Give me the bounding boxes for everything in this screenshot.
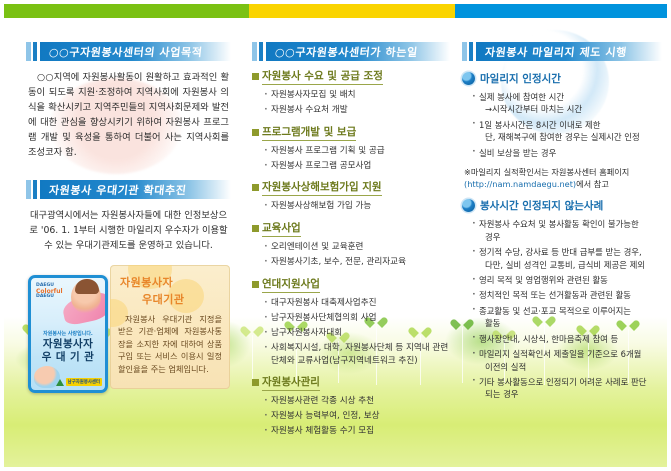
section-header-activities: ○○구자원봉사센터가 하는일: [252, 42, 450, 61]
mileage-hours-list: 실제 봉사에 참여한 시간 →시작시간부터 마치는 시간 1일 봉사시간은 8시…: [462, 91, 662, 159]
list-item: 오리엔테이션 및 교육훈련: [263, 241, 450, 254]
brochure-page: ○○구자원봉사센터의 사업목적 ○○지역에 자원봉사활동이 원활하고 효과적인 …: [0, 0, 671, 471]
ribbon-tick-dark: [33, 42, 37, 61]
preferred-org-infobox: 자원봉사자 우대기관 자원봉사 우대기관 지정을 받은 기관·업체에 자원봉사통…: [110, 265, 230, 389]
person-hair-illustration: [75, 279, 99, 294]
activity-block-header: 자원봉사상해보험가입 지원: [252, 181, 450, 196]
list-item: 1일 봉사시간은 8시간 이내로 제한 단, 재해복구에 참여한 경우는 실제시…: [471, 119, 662, 144]
list-item: 자원봉사 프로그램 공모사업: [263, 160, 450, 173]
activity-block: 자원봉사상해보험가입 지원 자원봉사상해보험 가입 가능: [252, 181, 450, 213]
preferred-org-paragraph: 대구광역시에서는 자원봉사자들에 대한 인정보상으로 '06. 1. 1부터 시…: [28, 208, 229, 253]
ribbon-tick-light: [462, 42, 467, 61]
list-item: 자원봉사 체험활동 수기 모집: [263, 425, 450, 438]
list-item: 남구자원봉사단체협의회 사업: [263, 312, 450, 325]
list-item: 영리 목적 및 영업행위와 관련된 활동: [471, 274, 662, 286]
activity-item-list: 자원봉사 프로그램 기획 및 공급 자원봉사 프로그램 공모사업: [252, 145, 450, 173]
section-header-mileage: 자원봉사 마일리지 제도 시행: [462, 42, 662, 61]
ribbon-tick-dark: [259, 42, 263, 61]
brochure-sheet: ○○구자원봉사센터의 사업목적 ○○지역에 자원봉사활동이 원활하고 효과적인 …: [4, 4, 667, 467]
list-item: 마일리지 실적확인서 제출일을 기준으로 6개월 이전의 실적: [471, 348, 662, 373]
mileage-hours-title: 마일리지 인정시간: [480, 71, 561, 86]
center-homepage-link[interactable]: (http://nam.namdaegu.net): [464, 179, 576, 189]
activity-block-header: 교육사업: [252, 222, 450, 237]
list-item: 자원봉사 능력부여, 인정, 보상: [263, 410, 450, 423]
list-item: 정치적인 목적 또는 선거활동과 관련된 활동: [471, 289, 662, 301]
section-header-preferred-org: 자원봉사 우대기관 확대추진: [26, 180, 231, 199]
ribbon-tick-dark: [469, 42, 473, 61]
square-bullet-icon: [252, 184, 259, 191]
list-item: 대구자원봉사 대축제사업추진: [263, 297, 450, 310]
activity-block-header: 자원봉사 수요 및 공급 조정: [252, 70, 450, 85]
ribbon-bar: 자원봉사 마일리지 제도 시행: [476, 42, 662, 61]
purpose-paragraph: ○○지역에 자원봉사활동이 원활하고 효과적인 활동이 되도록 지원·조정하여 …: [28, 70, 229, 160]
list-item: 남구자원봉사자대회: [263, 327, 450, 340]
list-item: 실비 보상을 받는 경우: [471, 147, 662, 159]
poster-tagline: 자원봉사는 사랑입니다.: [31, 330, 105, 337]
activity-block-header: 자원봉사관리: [252, 376, 450, 391]
activity-block-title: 자원봉사 수요 및 공급 조정: [262, 70, 383, 85]
section-header-purpose: ○○구자원봉사센터의 사업목적: [26, 42, 231, 61]
section-title-preferred-org: 자원봉사 우대기관 확대추진: [39, 182, 187, 198]
list-item: 자원봉사기초, 보수, 전문, 관리자교육: [263, 256, 450, 269]
yellow-bar: [249, 4, 455, 18]
excluded-cases-title: 봉사시간 인정되지 않는사례: [480, 198, 603, 213]
list-item: 정기적 수당, 강사료 등 반대 급부를 받는 경우, 다만, 실비 성격인 교…: [471, 246, 662, 271]
infobox-title-line2: 우대기관: [142, 291, 184, 307]
list-item: 사회복지시설, 대학, 자원봉사단체 등 지역내 관련단체와 교류사업(남구지역…: [263, 342, 450, 367]
right-column: 자원봉사 마일리지 제도 시행 마일리지 인정시간 실제 봉사에 참여한 시간 …: [462, 42, 662, 408]
square-bullet-icon: [252, 281, 259, 288]
bullet-dot-icon: [462, 72, 475, 85]
list-item: 종교활동 및 선교·포교 목적으로 이루어지는 활동: [471, 305, 662, 330]
activity-block-title: 프로그램개발 및 보급: [262, 126, 356, 141]
excluded-cases-header: 봉사시간 인정되지 않는사례: [462, 198, 662, 213]
ribbon-tick-light: [252, 42, 257, 61]
infobox-text: 자원봉사 우대기관 지정을 받은 기관·업체에 자원봉사통장을 소지한 자에 대…: [118, 313, 222, 375]
green-bar: [4, 4, 249, 18]
tree-icon: [56, 379, 64, 386]
ribbon-bar: ○○구자원봉사센터의 사업목적: [40, 42, 231, 61]
activity-block-header: 프로그램개발 및 보급: [252, 126, 450, 141]
poster-title: 자원봉사자 우 대 기 관: [31, 338, 105, 364]
center-badge: 남구자원봉사센터: [56, 378, 102, 386]
list-item: 자원봉사자모집 및 배치: [263, 89, 450, 102]
list-item: 자원봉사상해보험 가입 가능: [263, 200, 450, 213]
section-title-mileage: 자원봉사 마일리지 제도 시행: [475, 44, 628, 60]
activity-item-list: 자원봉사자모집 및 배치 자원봉사 수요처 개발: [252, 89, 450, 117]
activity-item-list: 대구자원봉사 대축제사업추진 남구자원봉사단체협의회 사업 남구자원봉사자대회 …: [252, 297, 450, 367]
activity-block-title: 교육사업: [262, 222, 301, 237]
activity-block: 자원봉사관리 자원봉사관련 각종 시상 추천 자원봉사 능력부여, 인정, 보상…: [252, 376, 450, 438]
activity-item-list: 오리엔테이션 및 교육훈련 자원봉사기초, 보수, 전문, 관리자교육: [252, 241, 450, 269]
activity-block: 교육사업 오리엔테이션 및 교육훈련 자원봉사기초, 보수, 전문, 관리자교육: [252, 222, 450, 269]
activity-block: 자원봉사 수요 및 공급 조정 자원봉사자모집 및 배치 자원봉사 수요처 개발: [252, 70, 450, 117]
activity-block-title: 자원봉사관리: [262, 376, 320, 391]
left-column: ○○구자원봉사센터의 사업목적 ○○지역에 자원봉사활동이 원활하고 효과적인 …: [26, 42, 231, 393]
section-title-activities: ○○구자원봉사센터가 하는일: [265, 44, 418, 60]
bullet-dot-icon: [462, 199, 475, 212]
activity-item-list: 자원봉사관련 각종 시상 추천 자원봉사 능력부여, 인정, 보상 자원봉사 체…: [252, 395, 450, 438]
excluded-cases-list: 자원봉사 수요처 및 봉사활동 확인이 불가능한 경우 정기적 수당, 강사료 …: [462, 218, 662, 400]
square-bullet-icon: [252, 73, 259, 80]
square-bullet-icon: [252, 225, 259, 232]
ribbon-tick-light: [26, 180, 31, 199]
ribbon-bar: 자원봉사 우대기관 확대추진: [40, 180, 231, 199]
list-item: 행사장안내, 시상식, 한마음축제 참여 등: [471, 333, 662, 345]
square-bullet-icon: [252, 379, 259, 386]
activity-block-title: 자원봉사상해보험가입 지원: [262, 181, 382, 196]
ribbon-tick-light: [26, 42, 31, 61]
list-item: 실제 봉사에 참여한 시간 →시작시간부터 마치는 시간: [471, 91, 662, 116]
list-item: 자원봉사 프로그램 기획 및 공급: [263, 145, 450, 158]
list-item: 자원봉사 수요처 및 봉사활동 확인이 불가능한 경우: [471, 218, 662, 243]
mileage-hours-header: 마일리지 인정시간: [462, 71, 662, 86]
poster-and-infobox: DAEGU Colorful DAEGU 자원봉사는 사랑입니다. 자원봉사자 …: [26, 265, 231, 393]
ribbon-tick-dark: [33, 180, 37, 199]
blue-bar: [455, 4, 667, 18]
list-item: 자원봉사 수요처 개발: [263, 104, 450, 117]
activity-item-list: 자원봉사상해보험 가입 가능: [252, 200, 450, 213]
volunteer-card-poster: DAEGU Colorful DAEGU 자원봉사는 사랑입니다. 자원봉사자 …: [28, 275, 108, 393]
activity-block-title: 연대지원사업: [262, 278, 320, 293]
activity-block: 연대지원사업 대구자원봉사 대축제사업추진 남구자원봉사단체협의회 사업 남구자…: [252, 278, 450, 367]
top-color-bar: [4, 4, 667, 18]
infobox-title-line1: 자원봉사자: [120, 274, 173, 290]
middle-column: ○○구자원봉사센터가 하는일 자원봉사 수요 및 공급 조정 자원봉사자모집 및…: [252, 42, 450, 447]
ribbon-bar: ○○구자원봉사센터가 하는일: [266, 42, 450, 61]
section-title-purpose: ○○구자원봉사센터의 사업목적: [39, 44, 203, 60]
list-item: 기타 봉사활동으로 인정되기 어려운 사례로 판단 되는 경우: [471, 376, 662, 401]
activity-block: 프로그램개발 및 보급 자원봉사 프로그램 기획 및 공급 자원봉사 프로그램 …: [252, 126, 450, 173]
square-bullet-icon: [252, 129, 259, 136]
activity-block-header: 연대지원사업: [252, 278, 450, 293]
daegu-logo: DAEGU Colorful DAEGU: [36, 283, 63, 300]
list-item: 자원봉사관련 각종 시상 추천: [263, 395, 450, 408]
badge-label: 남구자원봉사센터: [66, 378, 102, 386]
mileage-note: ※마일리지 실적확인서는 자원봉사센터 홈페이지 (http://nam.nam…: [462, 166, 662, 190]
